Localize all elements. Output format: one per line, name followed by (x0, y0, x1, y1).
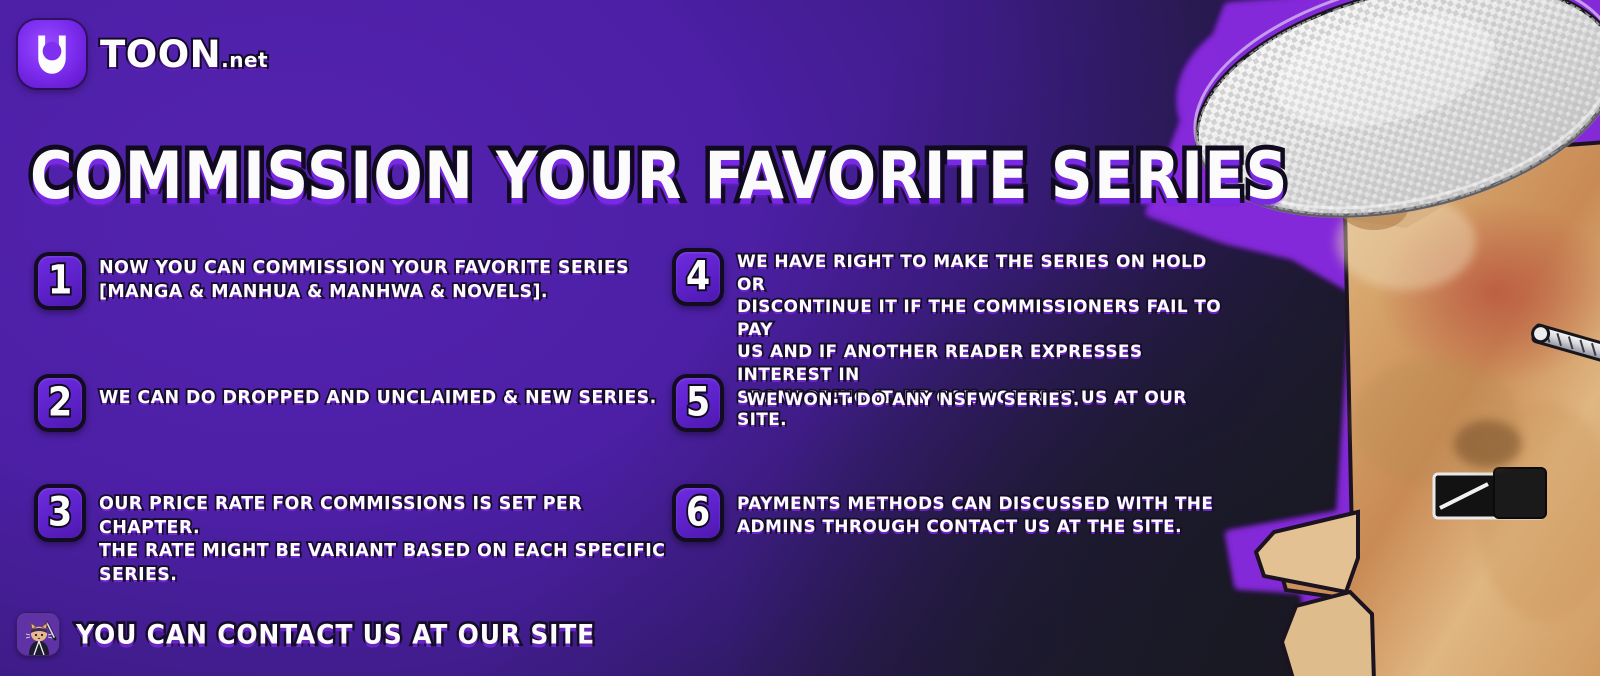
point-number: 6 (686, 493, 710, 533)
footer-contact[interactable]: YOU CAN CONTACT US AT OUR SITE (16, 612, 595, 656)
mascot-katana (1530, 324, 1600, 393)
point-number-badge: 3 (34, 484, 86, 542)
point-number: 3 (48, 493, 72, 533)
footer-contact-text: YOU CAN CONTACT US AT OUR SITE (76, 618, 595, 649)
page-title: COMMISSION YOUR FAVORITE SERIES (30, 143, 1289, 208)
brand-name-main: TOON (100, 33, 221, 76)
samurai-cat-avatar-icon[interactable] (16, 612, 60, 656)
list-item: 2 WE CAN DO DROPPED AND UNCLAIMED & NEW … (34, 374, 657, 432)
point-number: 2 (48, 383, 72, 423)
point-number-badge: 5 (672, 374, 724, 432)
mascot-body (1256, 142, 1600, 676)
point-text: NOW YOU CAN COMMISSION YOUR FAVORITE SER… (99, 252, 629, 304)
point-number-badge: 6 (672, 484, 724, 542)
point-number-badge: 2 (34, 374, 86, 432)
crescent-shape (28, 32, 77, 81)
list-item: 3 OUR PRICE RATE FOR COMMISSIONS IS SET … (34, 484, 674, 588)
point-text: PAYMENTS METHODS CAN DISCUSSED WITH THE … (737, 484, 1213, 538)
list-item: 5 WE WON'T DO ANY NSFW SERIES. (672, 374, 1080, 432)
point-number: 1 (48, 261, 72, 301)
brand-name: TOON.net (100, 36, 268, 73)
mascot-straw-hat (1172, 0, 1600, 253)
mascot-belt (1434, 420, 1546, 518)
point-text: WE WON'T DO ANY NSFW SERIES. (737, 374, 1080, 412)
commission-banner: TOON.net COMMISSION YOUR FAVORITE SERIES… (0, 0, 1600, 676)
point-number-badge: 1 (34, 252, 86, 310)
point-text: OUR PRICE RATE FOR COMMISSIONS IS SET PE… (99, 484, 674, 588)
brand-name-suffix: .net (221, 48, 268, 72)
point-number: 5 (686, 383, 710, 423)
crescent-moon-logo-icon[interactable] (18, 20, 86, 88)
point-number: 4 (686, 257, 710, 297)
mascot-muzzle (1340, 142, 1458, 230)
list-item: 1 NOW YOU CAN COMMISSION YOUR FAVORITE S… (34, 252, 629, 310)
point-number-badge: 4 (672, 248, 724, 306)
site-logo[interactable]: TOON.net (18, 20, 268, 88)
samurai-cat-glyph (17, 613, 60, 656)
point-text: WE CAN DO DROPPED AND UNCLAIMED & NEW SE… (99, 374, 657, 411)
list-item: 6 PAYMENTS METHODS CAN DISCUSSED WITH TH… (672, 484, 1213, 542)
